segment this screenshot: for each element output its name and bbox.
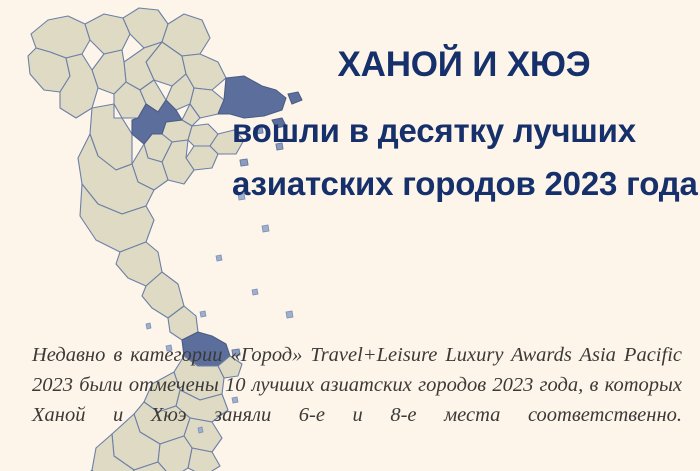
headline-subtitle: вошли в десятку лучших азиатских городов… [232, 104, 700, 210]
content-layer: ХАНОЙ И ХЮЭ вошли в десятку лучших азиат… [0, 0, 700, 471]
poster-root: ХАНОЙ И ХЮЭ вошли в десятку лучших азиат… [0, 0, 700, 471]
body-paragraph: Недавно в категории «Город» Travel+Leisu… [32, 340, 682, 460]
headline-title: ХАНОЙ И ХЮЭ [232, 40, 696, 90]
headline-block: ХАНОЙ И ХЮЭ вошли в десятку лучших азиат… [232, 40, 696, 210]
